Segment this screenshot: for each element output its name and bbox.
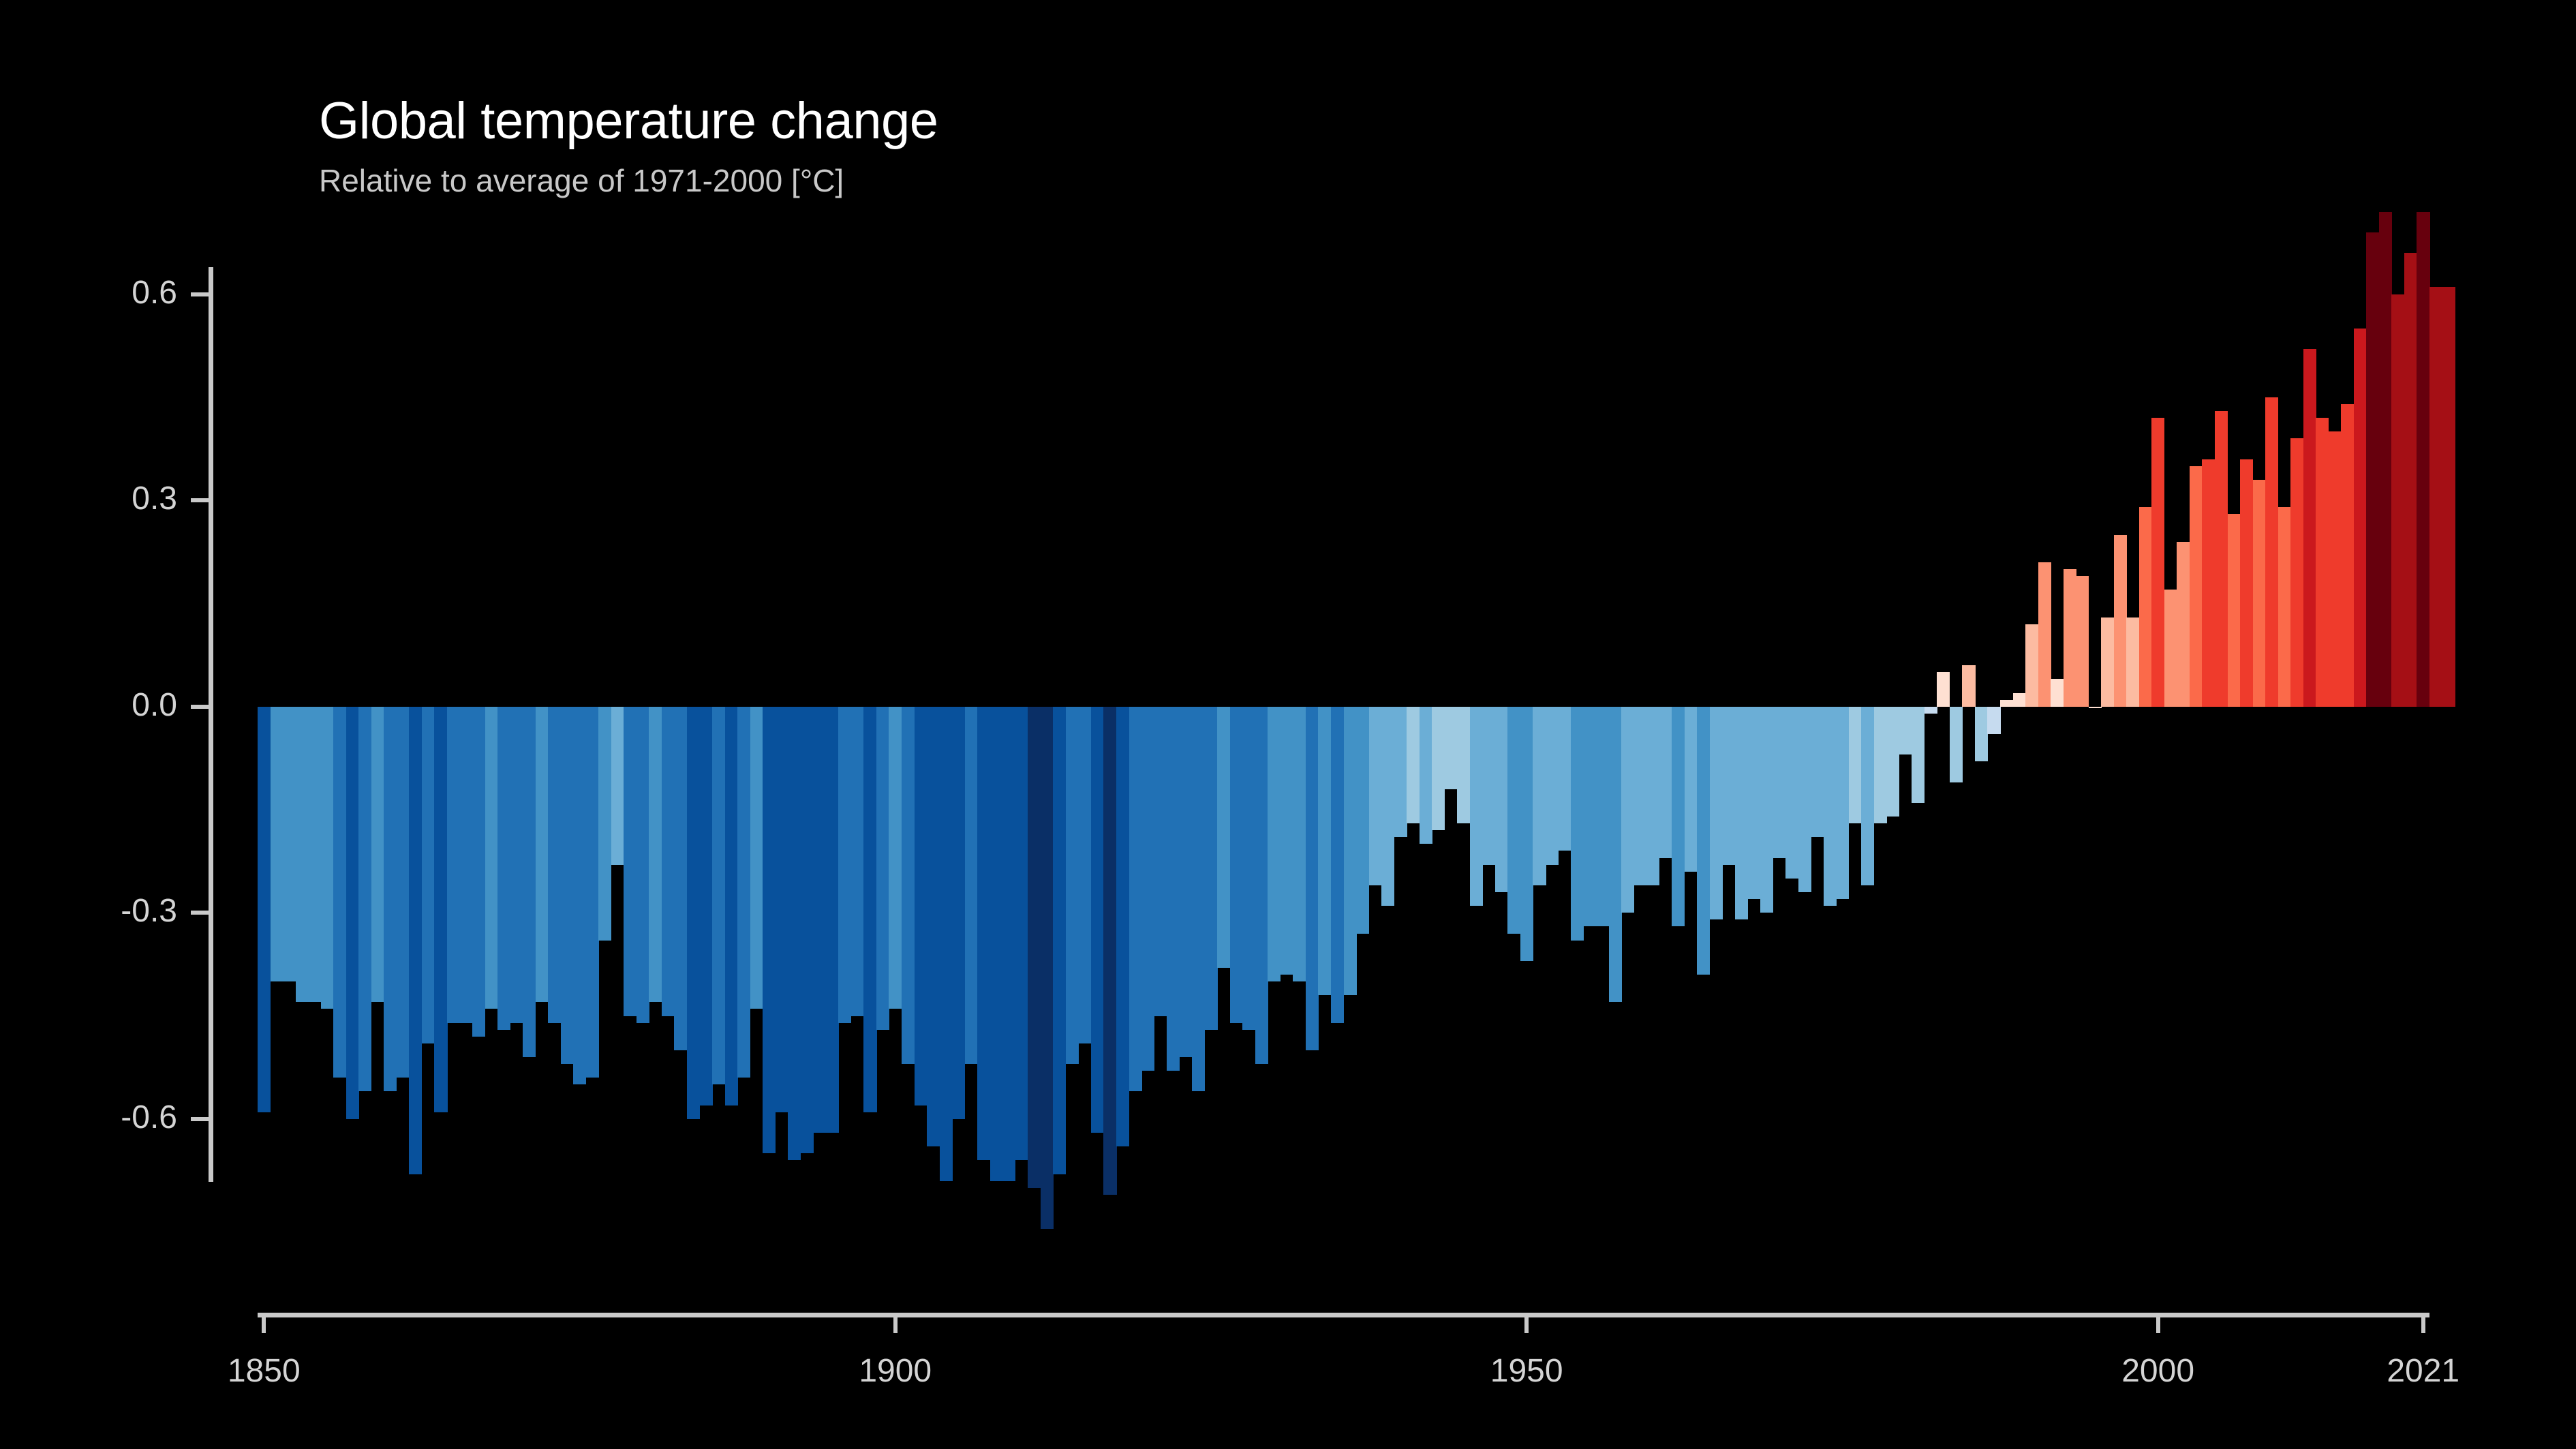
bar [1685,707,1698,872]
bars-layer [258,170,2429,1291]
bar [2316,418,2329,707]
bar [813,707,826,1133]
y-axis-tick-label: -0.3 [121,895,177,928]
bar [1950,707,1963,782]
bar [397,707,410,1078]
bar [283,707,296,981]
bar [851,707,864,1016]
bar [2391,294,2404,707]
bar [1129,707,1142,1092]
bar [2101,617,2114,707]
bar [2366,232,2379,707]
bar [1015,707,1028,1161]
bar [915,707,927,1105]
bar [1381,707,1394,906]
y-axis-tick [191,705,209,709]
bar [1584,707,1597,927]
bar [2126,617,2139,707]
bar [1596,707,1609,927]
bar [271,707,283,981]
y-axis-tick [191,1117,209,1121]
y-axis-tick-label: 0.6 [132,277,177,309]
bar [321,707,334,1009]
bar [358,707,371,1092]
bar [801,707,814,1154]
bar [1217,707,1230,968]
bar [2038,562,2051,707]
bar [1255,707,1268,1064]
bar [598,707,611,941]
bar [1899,707,1912,755]
bar [1760,707,1773,913]
bar [586,707,599,1078]
bar [384,707,397,1092]
bar [927,707,940,1146]
bar [2164,590,2177,706]
bar [700,707,713,1105]
plot-area [258,170,2429,1291]
bar [1041,707,1054,1230]
bar [2000,700,2013,707]
bar [422,707,435,1043]
bar [1420,707,1432,844]
x-axis-tick-label: 2021 [2387,1355,2459,1388]
x-axis-tick-label: 1950 [1490,1355,1563,1388]
bar [2177,542,2190,707]
bar [2341,404,2354,707]
bar [1407,707,1420,823]
page-title: Global temperature change [319,95,1954,147]
bar [1849,707,1862,823]
bar [990,707,1003,1181]
bar [1546,707,1559,865]
bar [2025,624,2038,707]
bar [472,707,485,1037]
bar [485,707,498,1009]
bar [1078,707,1091,1043]
bar [2429,287,2442,706]
bar [296,707,309,1003]
bar [2404,253,2417,707]
bar [1344,707,1357,996]
bar [662,707,675,1016]
bar [2442,287,2455,706]
y-axis-spine [209,267,213,1182]
bar [510,707,523,1023]
x-axis-tick [893,1313,898,1333]
bar [876,707,889,1030]
bar [536,707,549,1003]
x-axis-tick [2156,1313,2160,1333]
bar [523,707,536,1057]
bar [750,707,763,1009]
bar [1571,707,1584,941]
bar [1457,707,1470,823]
bar [2215,411,2228,707]
bar [1722,707,1735,865]
bar [1205,707,1218,1030]
bar [371,707,384,1003]
bar [1520,707,1533,961]
y-axis-tick-label: 0.0 [132,689,177,722]
bar [2202,459,2215,707]
bar [1785,707,1798,879]
bar [2089,707,2102,708]
bar [1659,707,1672,858]
bar [1886,707,1899,817]
bar [611,707,624,865]
bar [497,707,510,1030]
bar [1066,707,1079,1064]
bar [763,707,776,1154]
bar [1634,707,1647,885]
bar [1495,707,1508,892]
bar [1180,707,1193,1057]
bar [1747,707,1760,899]
bar [1470,707,1483,906]
bar [1697,707,1710,975]
bar [977,707,990,1161]
bar [1432,707,1445,831]
bar [1356,707,1369,934]
bar [2417,212,2429,707]
bar [1507,707,1520,934]
x-axis-tick [1524,1313,1529,1333]
x-axis-tick-label: 1850 [228,1355,301,1388]
bar [863,707,876,1112]
bar [2253,480,2266,707]
bar [2190,466,2203,707]
bar [2064,569,2076,707]
bar [1141,707,1154,1071]
bar [308,707,321,1003]
bar [1318,707,1331,996]
bar [649,707,662,1003]
bar [1912,707,1925,803]
bar [725,707,738,1105]
bar [1811,707,1824,838]
bar [1103,707,1116,1195]
bar [1672,707,1685,927]
bar [1482,707,1495,865]
bar [965,707,978,1064]
bar [1925,707,1937,714]
bar [1091,707,1104,1133]
bar [2379,212,2392,707]
bar [952,707,965,1119]
bar [573,707,586,1085]
bar [1773,707,1785,858]
bar [737,707,750,1078]
bar [1646,707,1659,885]
bar [1962,665,1975,707]
bar [1836,707,1849,899]
bar [1369,707,1382,885]
bar [2114,535,2127,707]
bar [1824,707,1837,906]
bar [1937,672,1950,706]
x-axis-tick-label: 1900 [859,1355,932,1388]
bar [2240,459,2253,707]
bar [1281,707,1293,975]
y-axis-tick [191,292,209,296]
bar [1028,707,1041,1188]
bar [838,707,851,1023]
bar [1242,707,1255,1030]
bar [1331,707,1344,1023]
bar [258,707,271,1112]
bar [1002,707,1015,1181]
bar [1735,707,1748,920]
bar [1293,707,1306,981]
bar [2051,679,2064,706]
bar [712,707,725,1085]
bar [788,707,801,1161]
bar [2076,576,2089,707]
bar [826,707,839,1133]
y-axis-tick-label: 0.3 [132,483,177,515]
bar [1621,707,1634,913]
bar [1987,707,2000,734]
bar [2290,438,2303,706]
x-axis-spine [258,1313,2429,1317]
bar [1710,707,1723,920]
y-axis-tick [191,498,209,502]
bar [1053,707,1066,1174]
bar [1609,707,1622,1003]
x-axis-tick [2421,1313,2425,1333]
bar [447,707,460,1023]
bar [1394,707,1407,838]
bar [1798,707,1811,892]
warming-stripes-figure: Global temperature change Relative to av… [0,0,2576,1449]
bar [624,707,637,1016]
bar [1154,707,1167,1016]
y-axis-tick-label: -0.6 [121,1101,177,1134]
bar [2278,507,2291,706]
bar [333,707,346,1078]
x-axis-tick-label: 2000 [2121,1355,2194,1388]
bar [2013,693,2026,707]
bar [1533,707,1546,885]
bar [2139,507,2152,706]
x-axis-tick [262,1313,266,1333]
bar [1874,707,1887,823]
bar [346,707,359,1119]
bar [1268,707,1281,981]
bar [776,707,788,1112]
bar [1116,707,1129,1146]
bar [1230,707,1243,1023]
bar [2329,431,2342,706]
bar [409,707,422,1174]
bar [561,707,574,1064]
bar [687,707,700,1119]
bar [2303,349,2316,706]
bar [1558,707,1571,851]
bar [1445,707,1458,789]
bar [434,707,447,1112]
bar [2228,514,2241,706]
bar [2354,329,2367,707]
bar [1861,707,1874,885]
bar [1306,707,1319,1050]
bar [459,707,472,1023]
bar [902,707,915,1064]
bar [2151,418,2164,707]
bar [1192,707,1205,1092]
bar [637,707,649,1023]
bar [1167,707,1180,1071]
bar [674,707,687,1050]
bar [2265,397,2278,707]
bar [940,707,953,1181]
bar [1975,707,1988,762]
bar [548,707,561,1023]
y-axis-tick [191,911,209,915]
bar [889,707,902,1009]
